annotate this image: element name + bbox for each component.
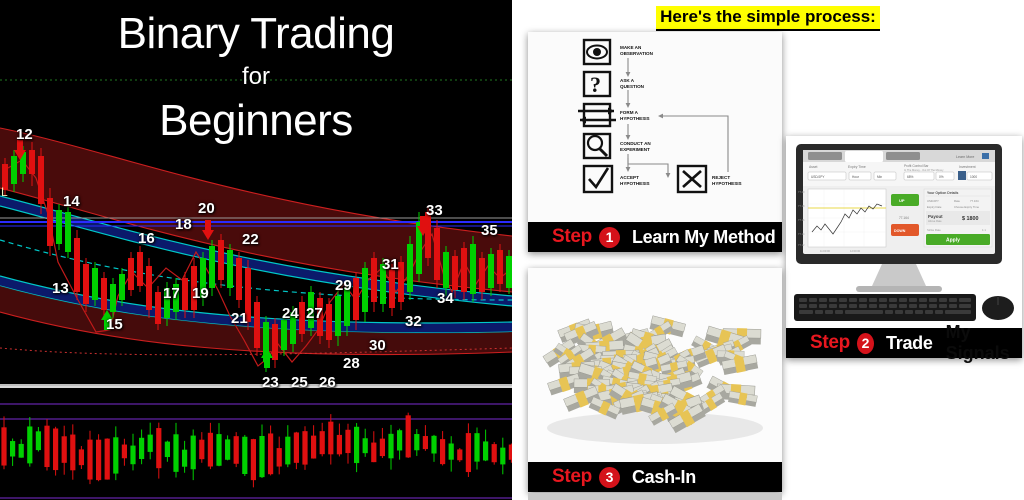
svg-text:0%: 0% xyxy=(939,175,944,179)
trade-number-33: 33 xyxy=(426,202,443,219)
trade-number-19: 19 xyxy=(192,285,209,302)
svg-text:REJECT: REJECT xyxy=(712,175,730,180)
platform-up-button xyxy=(891,194,919,206)
monitor-illustration: Learn More Asset Expiry Time Profit Cont… xyxy=(786,136,1022,328)
svg-text:MAKE AN: MAKE AN xyxy=(620,45,642,50)
svg-text:Hour: Hour xyxy=(852,175,860,179)
price-chart-area[interactable]: L 12131415161718192021222324252627282930… xyxy=(0,0,512,382)
trade-number-28: 28 xyxy=(343,355,360,372)
step-2-number: 2 xyxy=(857,333,874,354)
trade-number-18: 18 xyxy=(175,216,192,233)
money-pile-svg xyxy=(528,268,782,462)
trade-number-12: 12 xyxy=(16,126,33,143)
svg-text:Asset: Asset xyxy=(809,165,818,169)
trading-chart-panel: L 12131415161718192021222324252627282930… xyxy=(0,0,512,500)
svg-text:Choose Expiry Time: Choose Expiry Time xyxy=(954,205,979,209)
svg-text:Expiry Time: Expiry Time xyxy=(848,165,866,169)
headline-wrap: Here's the simple process: xyxy=(512,6,1024,31)
money-illustration xyxy=(528,268,782,462)
trade-number-35: 35 xyxy=(481,222,498,239)
svg-text:77.18: 77.18 xyxy=(798,204,805,208)
step-3-card-footer xyxy=(528,493,782,500)
monitor-svg: Learn More Asset Expiry Time Profit Cont… xyxy=(786,136,1022,328)
svg-text:11:00:00: 11:00:00 xyxy=(820,249,830,253)
step-3-word: Step xyxy=(552,466,592,488)
svg-text:Rate: Rate xyxy=(954,199,960,203)
step-2-label-faded: My Signals xyxy=(946,322,1022,364)
svg-text:HYPOTHESIS: HYPOTHESIS xyxy=(712,181,742,186)
trade-number-13: 13 xyxy=(52,280,69,297)
step-2-card[interactable]: Learn More Asset Expiry Time Profit Cont… xyxy=(786,136,1022,358)
svg-text:Investment: Investment xyxy=(959,165,976,169)
step-1-bar: Step 1 Learn My Method xyxy=(528,222,782,252)
svg-text:CONDUCT AN: CONDUCT AN xyxy=(620,141,651,146)
svg-text:USD/JPY: USD/JPY xyxy=(927,199,939,203)
trade-number-21: 21 xyxy=(231,310,248,327)
trade-number-29: 29 xyxy=(335,277,352,294)
trade-number-31: 31 xyxy=(382,256,399,273)
svg-text:?: ? xyxy=(590,72,601,97)
svg-text:77.164: 77.164 xyxy=(899,216,909,220)
trade-number-20: 20 xyxy=(198,200,215,217)
svg-text:Apply: Apply xyxy=(946,238,960,244)
svg-text:Min: Min xyxy=(877,175,882,179)
svg-text:12:00:00: 12:00:00 xyxy=(850,249,861,253)
trade-number-25: 25 xyxy=(291,374,308,391)
svg-text:HYPOTHESIS: HYPOTHESIS xyxy=(620,116,650,121)
svg-text:Your Option Details: Your Option Details xyxy=(927,191,959,195)
trade-number-22: 22 xyxy=(242,231,259,248)
scientific-method-flowchart: MAKE AN OBSERVATION ? ASK A QUESTION xyxy=(528,32,782,222)
trade-number-26: 26 xyxy=(319,374,336,391)
left-axis-marker: L xyxy=(1,185,8,199)
step-2-bar: Step 2 Trade My Signals xyxy=(786,328,1022,358)
svg-text:Profit Control Bar: Profit Control Bar xyxy=(904,164,929,168)
indicator-chart-svg xyxy=(0,386,512,500)
svg-text:77.14: 77.14 xyxy=(798,232,805,236)
step-1-card[interactable]: MAKE AN OBSERVATION ? ASK A QUESTION xyxy=(528,32,782,252)
trade-number-30: 30 xyxy=(369,337,386,354)
svg-text:68%: 68% xyxy=(907,175,914,179)
svg-text:$ 1800: $ 1800 xyxy=(962,216,979,222)
svg-text:Learn More: Learn More xyxy=(956,155,974,159)
trade-number-14: 14 xyxy=(63,193,80,210)
trade-number-24: 24 xyxy=(282,305,299,322)
svg-text:FORM A: FORM A xyxy=(620,110,639,115)
svg-text:Strike Rate: Strike Rate xyxy=(927,228,941,232)
svg-text:HYPOTHESIS: HYPOTHESIS xyxy=(620,181,650,186)
step-3-card[interactable]: Step 3 Cash-In xyxy=(528,268,782,492)
trade-number-27: 27 xyxy=(306,305,323,322)
trade-number-15: 15 xyxy=(106,316,123,333)
platform-tab-option-builder xyxy=(845,151,883,162)
step-3-label: Cash-In xyxy=(632,467,696,488)
svg-text:1:1: 1:1 xyxy=(982,228,986,232)
price-chart-svg xyxy=(0,0,512,382)
svg-text:1000: 1000 xyxy=(970,175,977,179)
step-2-word: Step xyxy=(810,332,850,354)
svg-text:Above Rate: Above Rate xyxy=(928,219,942,223)
svg-text:UP: UP xyxy=(899,198,905,203)
svg-text:77.164: 77.164 xyxy=(970,199,979,203)
trade-number-17: 17 xyxy=(163,285,180,302)
step-1-label: Learn My Method xyxy=(632,227,776,248)
trade-number-16: 16 xyxy=(138,230,155,247)
process-headline: Here's the simple process: xyxy=(656,6,880,31)
page-root: L 12131415161718192021222324252627282930… xyxy=(0,0,1024,500)
step-3-number: 3 xyxy=(599,467,620,488)
svg-text:77.12: 77.12 xyxy=(798,243,805,247)
svg-text:EXPERIMENT: EXPERIMENT xyxy=(620,147,650,152)
svg-text:Payout: Payout xyxy=(928,214,943,219)
svg-text:OBSERVATION: OBSERVATION xyxy=(620,51,654,56)
svg-text:DOWN: DOWN xyxy=(894,229,906,233)
trade-number-32: 32 xyxy=(405,313,422,330)
process-panel: Here's the simple process: MAKE AN OBSER… xyxy=(512,0,1024,500)
svg-text:In The Money - Out Of The Mone: In The Money - Out Of The Money xyxy=(904,168,944,172)
svg-text:QUESTION: QUESTION xyxy=(620,84,645,89)
step-1-number: 1 xyxy=(599,227,620,248)
platform-tab-one-touch xyxy=(886,152,920,160)
svg-text:ASK A: ASK A xyxy=(620,78,635,83)
trade-number-34: 34 xyxy=(437,290,454,307)
step-2-label: Trade xyxy=(886,333,933,354)
trade-number-23: 23 xyxy=(262,374,279,391)
svg-text:Expiry Date: Expiry Date xyxy=(927,205,942,209)
svg-text:77.16: 77.16 xyxy=(798,218,805,222)
indicator-chart-area[interactable] xyxy=(0,384,512,500)
svg-text:77.20: 77.20 xyxy=(798,190,805,194)
platform-tab-binary xyxy=(808,152,842,160)
svg-text:ACCEPT: ACCEPT xyxy=(620,175,639,180)
svg-text:USD/JPY: USD/JPY xyxy=(811,175,825,179)
step-1-word: Step xyxy=(552,226,592,248)
step-3-bar: Step 3 Cash-In xyxy=(528,462,782,492)
